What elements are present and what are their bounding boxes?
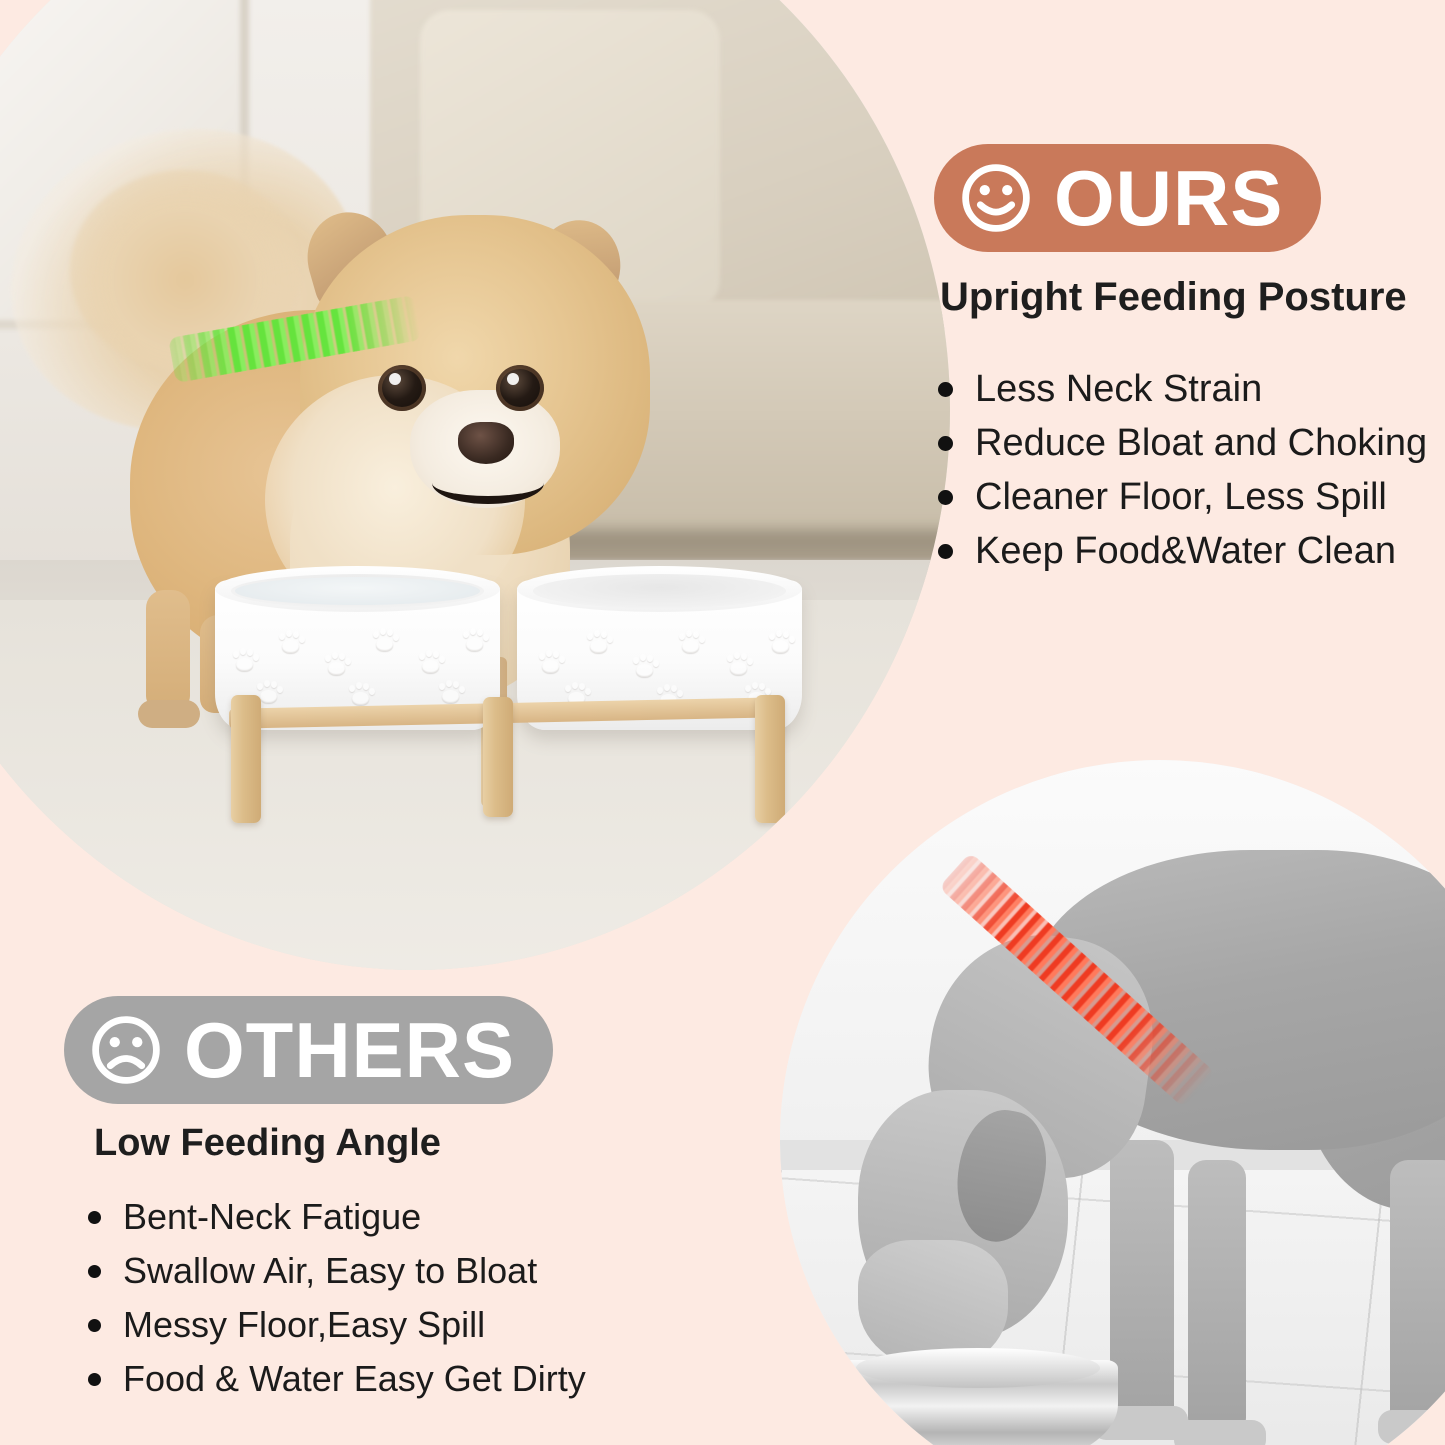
steel-bowl-rim bbox=[856, 1348, 1100, 1388]
list-item-label: Less Neck Strain bbox=[975, 362, 1262, 416]
paw-print-icon bbox=[347, 682, 373, 706]
list-item: Keep Food&Water Clean bbox=[938, 524, 1427, 578]
others-badge: OTHERS bbox=[64, 996, 553, 1104]
list-item: Messy Floor,Easy Spill bbox=[88, 1298, 586, 1352]
ours-badge-label: OURS bbox=[1054, 159, 1283, 237]
large-dog-paw bbox=[1378, 1410, 1445, 1444]
paw-print-icon bbox=[585, 630, 611, 654]
list-item-label: Swallow Air, Easy to Bloat bbox=[123, 1244, 537, 1298]
paw-print-icon bbox=[417, 650, 443, 674]
list-item-label: Cleaner Floor, Less Spill bbox=[975, 470, 1387, 524]
bullet-dot-icon bbox=[88, 1373, 101, 1386]
bullet-dot-icon bbox=[88, 1265, 101, 1278]
large-dog-hind-leg bbox=[1390, 1160, 1445, 1430]
ours-section-title: Upright Feeding Posture bbox=[940, 275, 1407, 320]
product-comparison-infographic: OURS Upright Feeding Posture Less Neck S… bbox=[0, 0, 1445, 1445]
dog-mouth bbox=[432, 462, 544, 504]
ours-benefit-list: Less Neck Strain Reduce Bloat and Chokin… bbox=[938, 362, 1427, 578]
large-dog-front-leg bbox=[1188, 1160, 1246, 1430]
paw-print-icon bbox=[437, 680, 463, 704]
paw-print-icon bbox=[371, 628, 397, 652]
dog-eye-right bbox=[496, 365, 544, 411]
bullet-dot-icon bbox=[938, 544, 953, 559]
paw-print-icon bbox=[537, 650, 563, 674]
bullet-dot-icon bbox=[88, 1319, 101, 1332]
sad-face-icon bbox=[90, 1014, 162, 1086]
paw-print-icon bbox=[677, 630, 703, 654]
stainless-steel-floor-bowl bbox=[838, 1360, 1118, 1445]
paw-print-pattern bbox=[225, 622, 490, 712]
water-surface bbox=[235, 577, 480, 605]
list-item: Cleaner Floor, Less Spill bbox=[938, 470, 1427, 524]
bullet-dot-icon bbox=[938, 436, 953, 451]
ours-badge: OURS bbox=[934, 144, 1321, 252]
stand-leg bbox=[231, 695, 261, 823]
bullet-dot-icon bbox=[938, 490, 953, 505]
stand-leg bbox=[483, 697, 513, 817]
list-item: Reduce Bloat and Choking bbox=[938, 416, 1427, 470]
paw-print-icon bbox=[767, 630, 793, 654]
others-product-photo bbox=[780, 760, 1445, 1445]
dog-eye-left bbox=[378, 365, 426, 411]
elevated-bowl-set bbox=[215, 545, 815, 875]
paw-print-icon bbox=[323, 652, 349, 676]
dog-nose bbox=[458, 422, 514, 464]
others-section-title: Low Feeding Angle bbox=[94, 1122, 441, 1165]
paw-print-icon bbox=[461, 628, 487, 652]
list-item-label: Reduce Bloat and Choking bbox=[975, 416, 1427, 470]
smiley-face-icon bbox=[960, 162, 1032, 234]
dog-paw bbox=[138, 700, 200, 728]
list-item-label: Messy Floor,Easy Spill bbox=[123, 1298, 485, 1352]
list-item: Swallow Air, Easy to Bloat bbox=[88, 1244, 586, 1298]
list-item: Bent-Neck Fatigue bbox=[88, 1190, 586, 1244]
large-dog-front-leg bbox=[1110, 1140, 1174, 1420]
paw-print-icon bbox=[277, 630, 303, 654]
list-item-label: Food & Water Easy Get Dirty bbox=[123, 1352, 586, 1406]
bullet-dot-icon bbox=[938, 382, 953, 397]
large-dog-paw bbox=[1174, 1420, 1266, 1445]
list-item-label: Keep Food&Water Clean bbox=[975, 524, 1396, 578]
dry-kibble-food bbox=[523, 528, 795, 614]
list-item-label: Bent-Neck Fatigue bbox=[123, 1190, 421, 1244]
paw-print-icon bbox=[231, 648, 257, 672]
list-item: Food & Water Easy Get Dirty bbox=[88, 1352, 586, 1406]
dog-front-leg bbox=[146, 590, 190, 710]
bullet-dot-icon bbox=[88, 1211, 101, 1224]
others-photo-scene bbox=[780, 760, 1445, 1445]
paw-print-icon bbox=[725, 652, 751, 676]
others-badge-label: OTHERS bbox=[184, 1011, 515, 1089]
list-item: Less Neck Strain bbox=[938, 362, 1427, 416]
others-drawback-list: Bent-Neck Fatigue Swallow Air, Easy to B… bbox=[88, 1190, 586, 1406]
paw-print-icon bbox=[631, 654, 657, 678]
